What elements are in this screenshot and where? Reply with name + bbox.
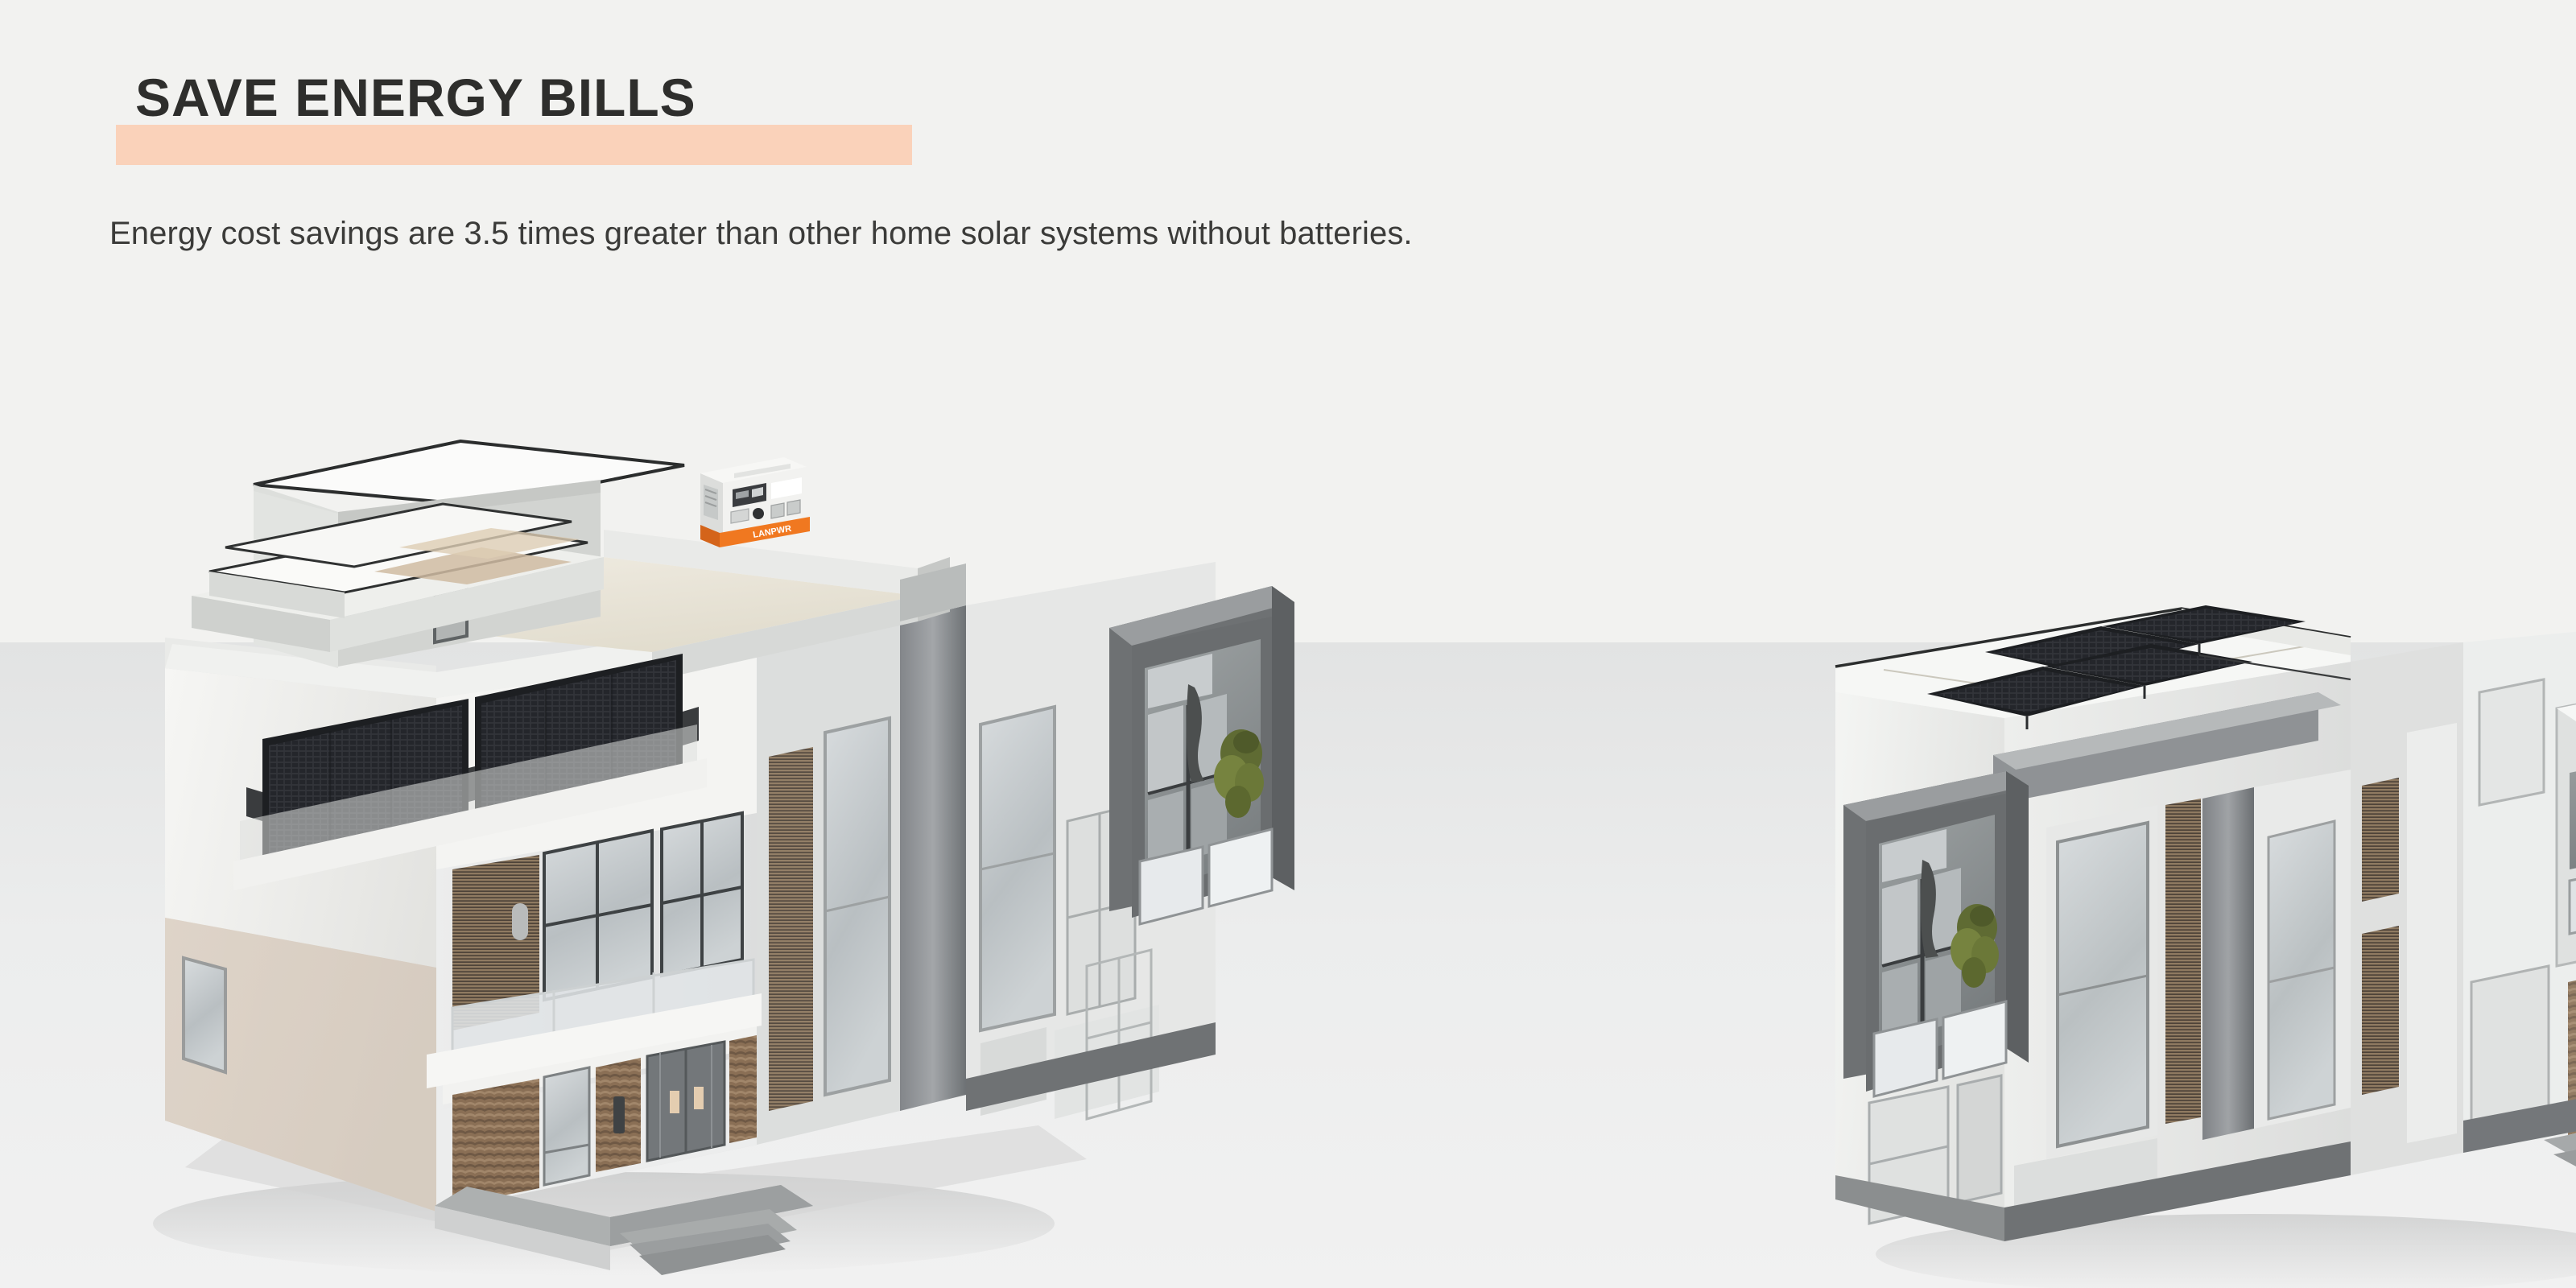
poster-canvas: SAVE ENERGY BILLS Energy cost savings ar… <box>0 0 2576 1288</box>
headline-highlight-bar <box>116 125 912 165</box>
page-subtitle: Energy cost savings are 3.5 times greate… <box>109 216 1413 252</box>
page-title: SAVE ENERGY BILLS <box>135 71 696 124</box>
background-ground-gradient <box>0 642 2576 1288</box>
